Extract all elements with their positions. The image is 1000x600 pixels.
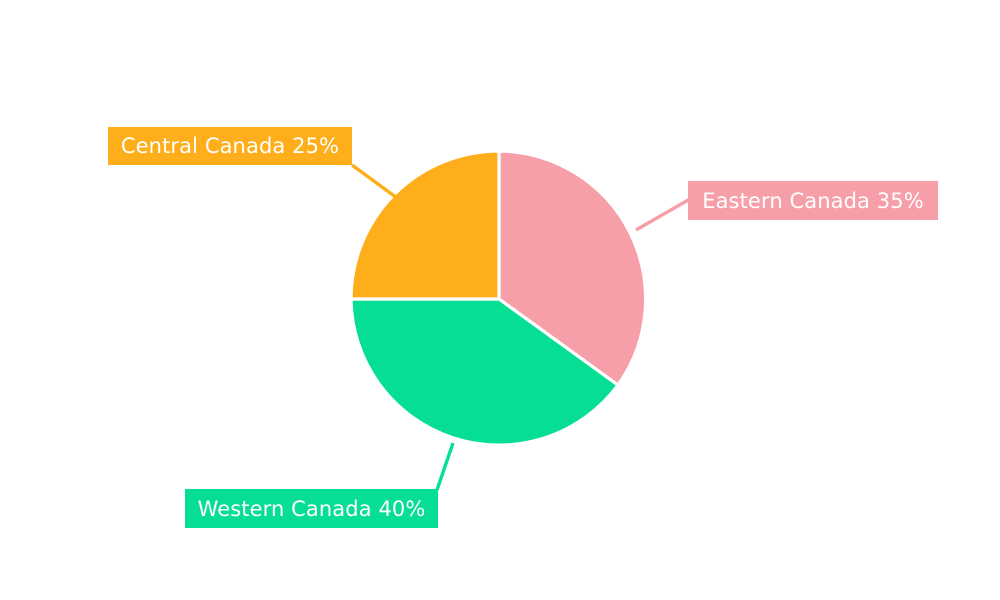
pie-chart-figure: Central Canada 25% Eastern Canada 35% We… <box>0 0 1000 600</box>
pie-label-eastern-canada[interactable]: Eastern Canada 35% <box>688 181 938 220</box>
pie-chart-canvas <box>0 0 1000 600</box>
pie-label-central-canada[interactable]: Central Canada 25% <box>108 127 352 165</box>
pie-label-western-canada[interactable]: Western Canada 40% <box>185 489 438 528</box>
